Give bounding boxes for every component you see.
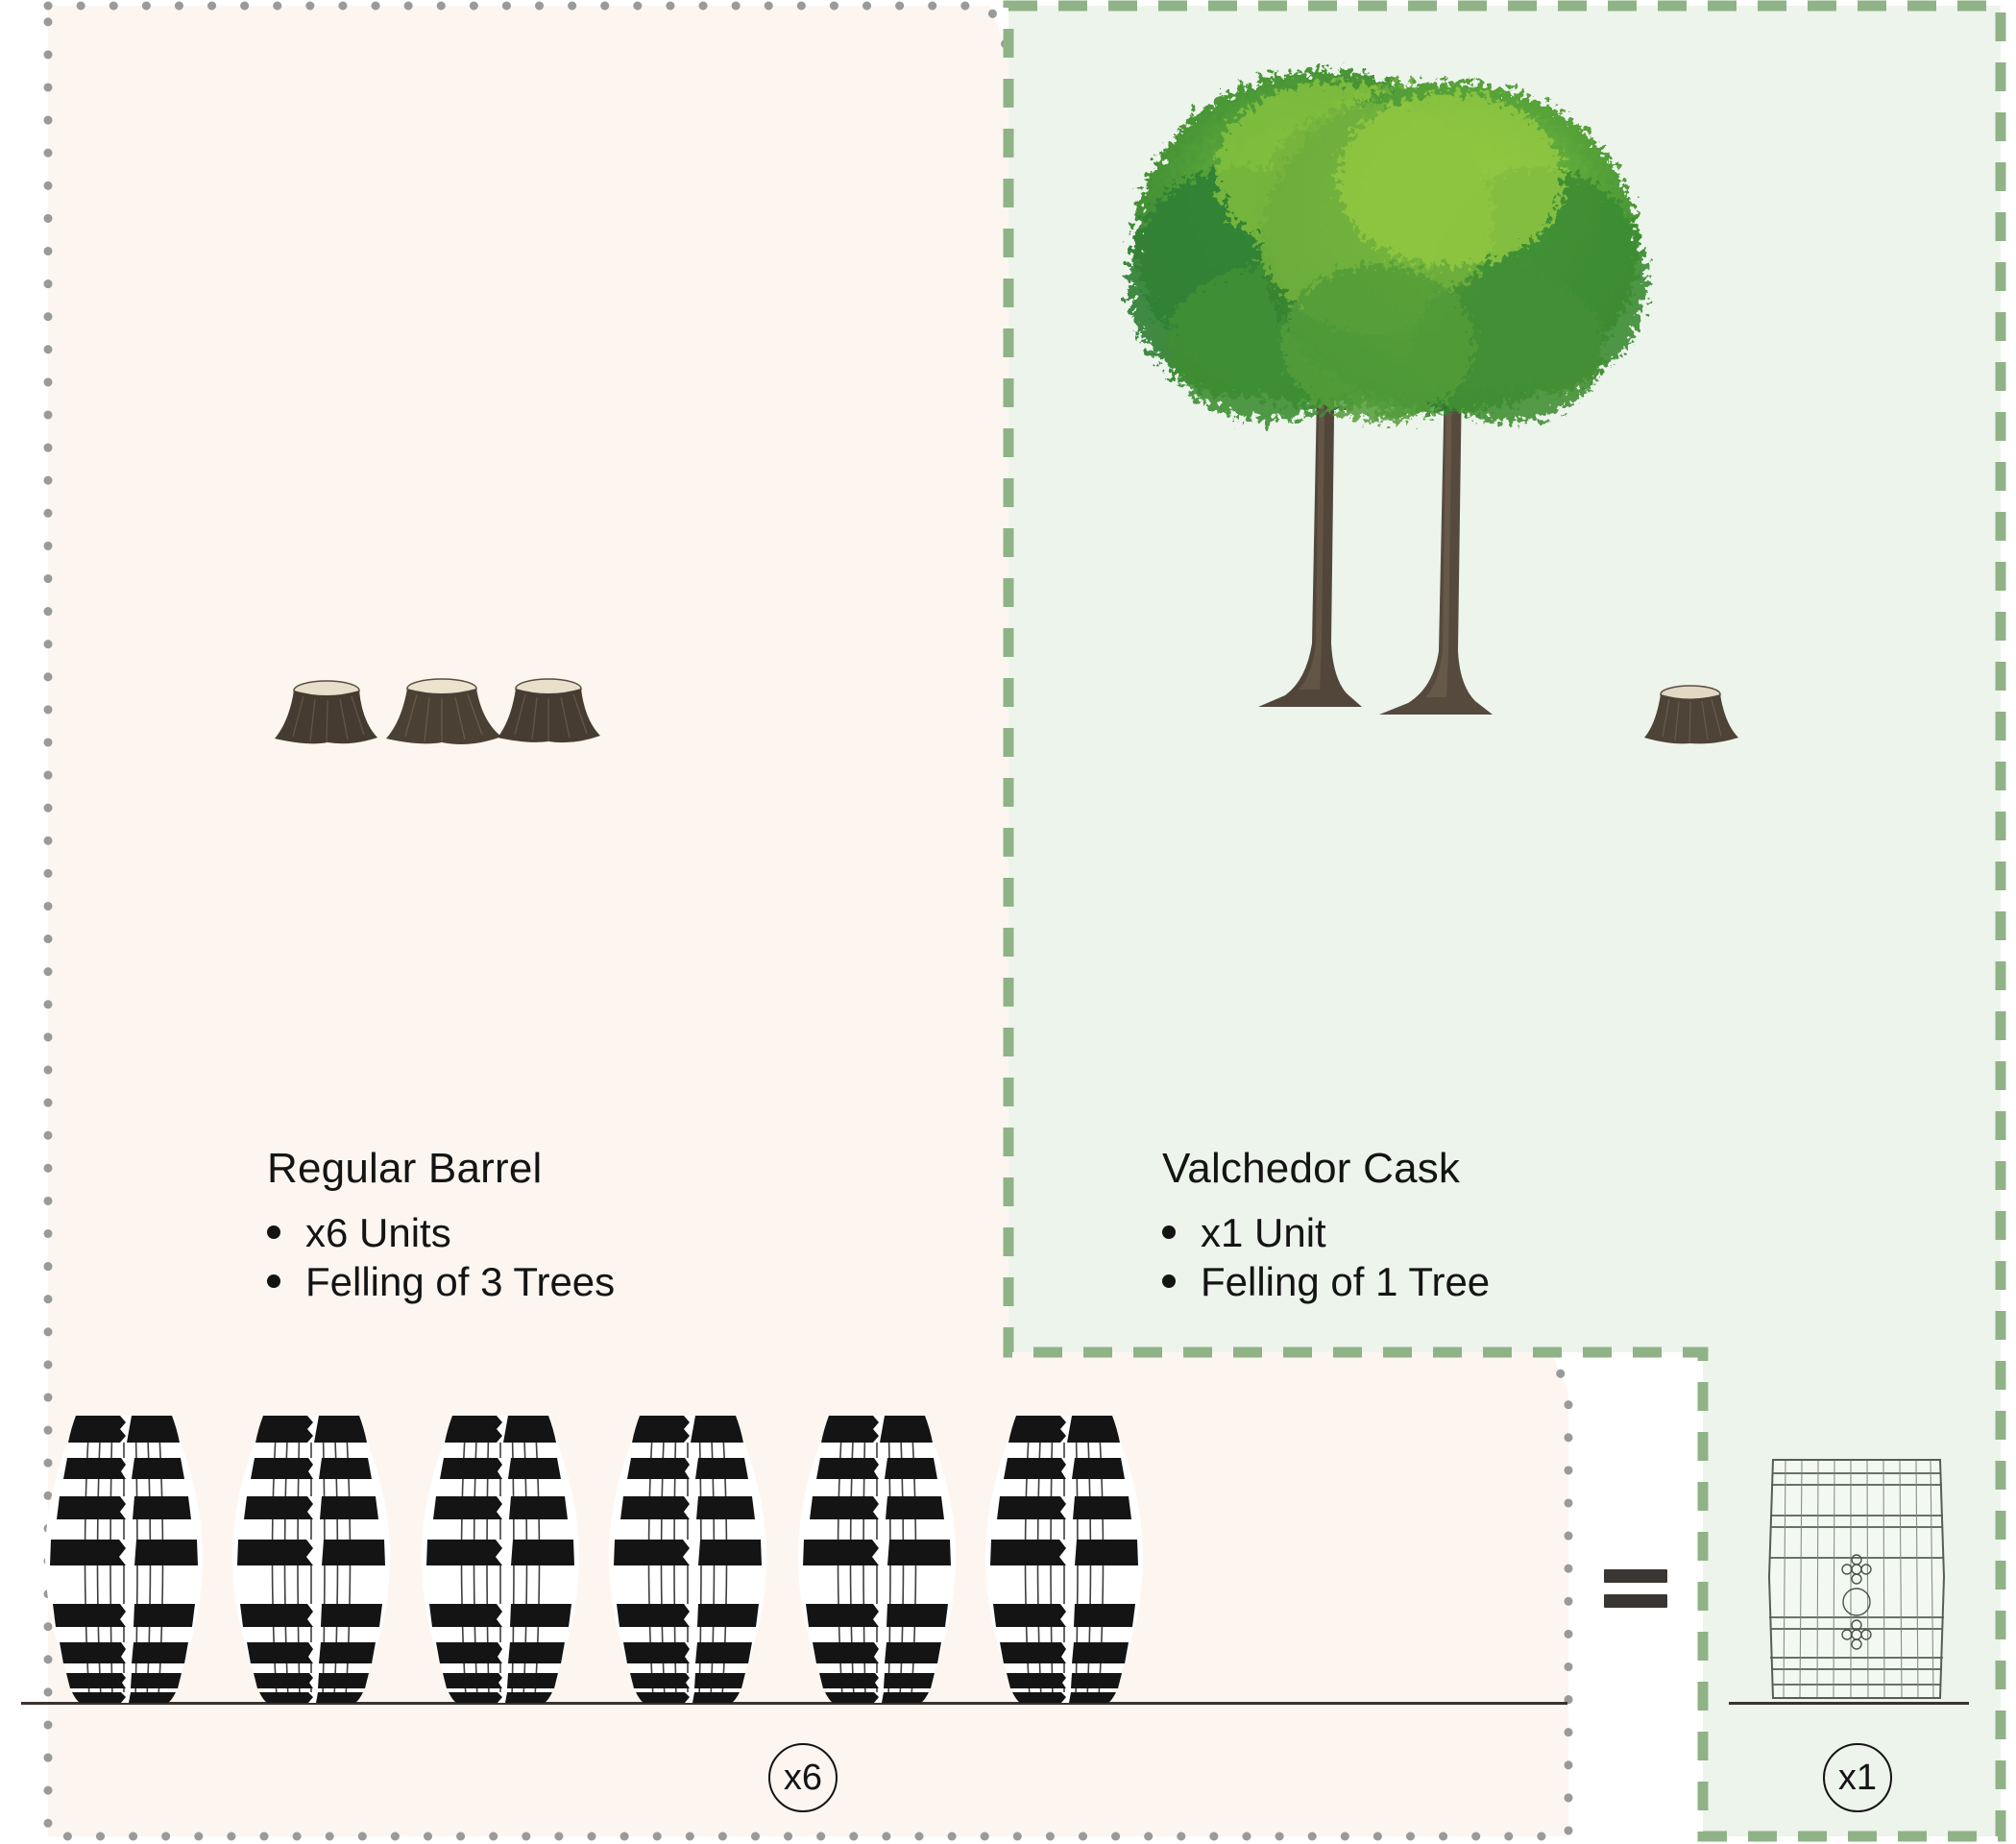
valchedor-cask-text-block: Valchedor Cask x1 Unit Felling of 1 Tree [1162, 1145, 1490, 1308]
badge-label: x1 [1838, 1758, 1877, 1799]
valchedor-cask-title: Valchedor Cask [1162, 1145, 1490, 1193]
valchedor-cask-bullet-list: x1 Unit Felling of 1 Tree [1162, 1210, 1490, 1304]
valchedor-cask-count-badge: x1 [1823, 1743, 1892, 1812]
bullet-icon [267, 1225, 280, 1239]
trunk-highlight-2 [1425, 376, 1452, 697]
stump-bark [1644, 694, 1738, 743]
bullet-label: Felling of 3 Trees [305, 1259, 615, 1304]
bullet-icon [1162, 1274, 1176, 1288]
bullet-icon [1162, 1225, 1176, 1239]
tree-with-canopy-2 [1239, 60, 1662, 751]
list-item: Felling of 3 Trees [267, 1259, 615, 1304]
badge-label: x6 [784, 1758, 822, 1799]
regular-barrel-6 [984, 1412, 1145, 1705]
list-item: x1 Unit [1162, 1210, 1490, 1255]
bullet-label: Felling of 1 Tree [1201, 1259, 1490, 1304]
tree-stump-2 [382, 675, 507, 754]
infographic-canvas: Regular Barrel x6 Units Felling of 3 Tre… [0, 0, 2016, 1844]
regular-barrel-1 [43, 1412, 205, 1705]
list-item: Felling of 1 Tree [1162, 1259, 1490, 1304]
regular-barrel-2 [231, 1412, 392, 1705]
bullet-label: x6 Units [305, 1210, 451, 1255]
regular-barrel-4 [607, 1412, 768, 1705]
bullet-label: x1 Unit [1201, 1210, 1326, 1255]
equals-sign-icon [1604, 1569, 1667, 1608]
stump-bark-1 [275, 691, 377, 743]
barrel-body [45, 1416, 203, 1703]
tree-stump-3 [493, 675, 608, 752]
tree-stump-green-panel [1633, 682, 1748, 749]
tree-stump-1 [272, 677, 387, 754]
valchedor-cask-illustration [1756, 1456, 1957, 1704]
regular-barrel-title: Regular Barrel [267, 1145, 615, 1193]
regular-barrel-5 [796, 1412, 958, 1705]
stump-bark-2 [386, 689, 501, 744]
regular-barrel-count-badge: x6 [768, 1743, 838, 1812]
equals-bar-bottom [1604, 1594, 1667, 1608]
tree-trunk-2 [1379, 376, 1493, 715]
bullet-icon [267, 1274, 280, 1288]
equals-bar-top [1604, 1569, 1667, 1583]
regular-barrel-bullet-list: x6 Units Felling of 3 Trees [267, 1210, 615, 1304]
regular-barrel-text-block: Regular Barrel x6 Units Felling of 3 Tre… [267, 1145, 615, 1308]
list-item: x6 Units [267, 1210, 615, 1255]
tree-canopy-2 [1253, 82, 1646, 423]
regular-barrel-3 [420, 1412, 581, 1705]
